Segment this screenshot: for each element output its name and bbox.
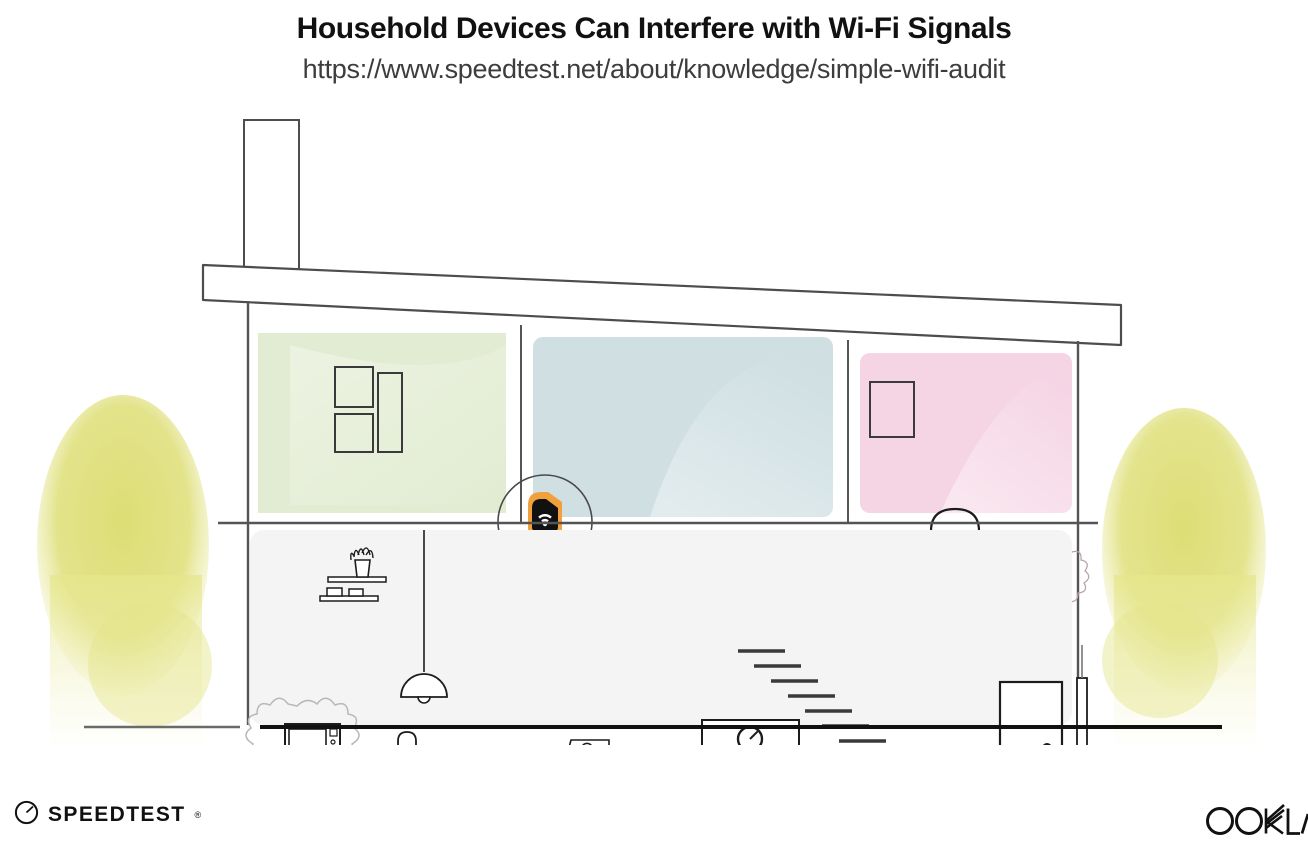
ookla-k-burst-icon <box>1266 805 1284 834</box>
tree-right <box>1102 408 1266 745</box>
header: Household Devices Can Interfere with Wi-… <box>0 0 1308 85</box>
gauge-icon <box>14 800 39 830</box>
house-cutaway-illustration: SPEEDTEST <box>0 105 1308 745</box>
television: SPEEDTEST <box>702 720 799 745</box>
ookla-wordmark <box>1208 809 1262 834</box>
tree-left <box>37 395 212 745</box>
chimney <box>244 120 299 272</box>
speedtest-logo[interactable]: SPEEDTEST ® <box>14 800 201 830</box>
page-title: Household Devices Can Interfere with Wi-… <box>0 0 1308 47</box>
room-living-kitchen: SPEEDTEST SPEEDTEST <box>246 530 1087 745</box>
ookla-la-letters <box>1288 809 1308 834</box>
source-url: https://www.speedtest.net/about/knowledg… <box>0 47 1308 85</box>
laptop: SPEEDTEST <box>555 740 617 745</box>
kitchen-sink-faucet <box>398 732 416 745</box>
ookla-logo[interactable] <box>1204 802 1308 843</box>
speedtest-wordmark: SPEEDTEST <box>48 803 185 827</box>
footer: SPEEDTEST ® <box>0 780 1308 861</box>
speedtest-trademark: ® <box>194 810 201 820</box>
